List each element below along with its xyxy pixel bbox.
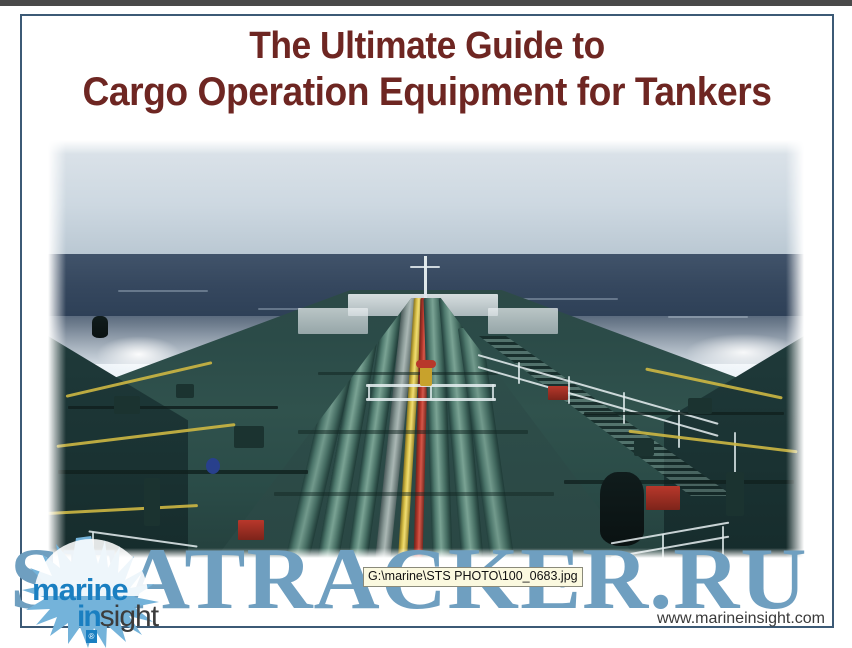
platform-stanchion: [492, 384, 494, 400]
deck-equipment-box-red: [548, 386, 568, 400]
photo-sky: [48, 140, 804, 258]
deck-valve-blue: [206, 458, 220, 474]
sea-streak: [518, 298, 618, 300]
deck-valve-block: [234, 426, 264, 448]
logo-word-in: in: [77, 600, 100, 633]
tanker-deck-photo: [48, 140, 804, 558]
logo-word-sight: sight: [100, 600, 158, 633]
site-url-label[interactable]: www.marineinsight.com: [657, 610, 825, 628]
bow-structure: [488, 308, 558, 334]
deck-pipe-run: [58, 470, 308, 474]
pipe-flange-row: [318, 372, 498, 375]
logo-word-insight: insight: [77, 602, 232, 637]
sea-streak: [118, 290, 208, 292]
deck-equipment-box-red: [646, 486, 680, 510]
deck-valve-block: [176, 384, 194, 398]
deck-pipe-run: [68, 406, 278, 409]
document-page: The Ultimate Guide to Cargo Operation Eq…: [0, 6, 852, 642]
catwalk-stanchion: [568, 376, 570, 404]
bow-stanchion: [662, 534, 664, 558]
catwalk-stanchion: [678, 410, 680, 448]
page-title: The Ultimate Guide to Cargo Operation Eq…: [22, 24, 832, 116]
photo-canvas: [48, 140, 804, 558]
deck-pipe-run: [584, 412, 784, 415]
title-line-secondary: Cargo Operation Equipment for Tankers: [50, 69, 803, 116]
pipe-flange-row: [274, 492, 554, 496]
registered-trademark-icon: ®: [86, 630, 97, 643]
pipe-flange-row: [298, 430, 528, 434]
catwalk-stanchion: [518, 362, 520, 384]
manifold-valve-wheel: [416, 360, 436, 368]
deck-equipment-box-red: [238, 520, 264, 540]
catwalk-stanchion: [734, 432, 736, 476]
deck-valve-block: [688, 398, 712, 414]
catwalk-stanchion: [623, 392, 625, 424]
bow-stanchion: [722, 526, 724, 556]
file-path-tooltip: G:\marine\STS PHOTO\100_0683.jpg: [363, 567, 583, 587]
deck-valve-block: [634, 440, 654, 456]
deck-riser: [144, 478, 160, 526]
bow-structure: [298, 308, 368, 334]
foremast: [424, 256, 427, 304]
title-line-primary: The Ultimate Guide to: [50, 24, 803, 69]
deck-pipe-run: [564, 480, 794, 484]
logo-wordmark: marine insight ®: [32, 576, 232, 637]
mast-crosstree: [410, 266, 440, 268]
marine-insight-logo[interactable]: marine insight ®: [6, 530, 236, 648]
deck-tank-cylinder: [92, 316, 108, 338]
platform-stanchion: [368, 384, 370, 400]
deck-tank-cylinder: [600, 472, 644, 546]
deck-valve-block: [114, 396, 140, 414]
manifold-valve: [420, 366, 432, 386]
deck-riser: [726, 472, 744, 516]
